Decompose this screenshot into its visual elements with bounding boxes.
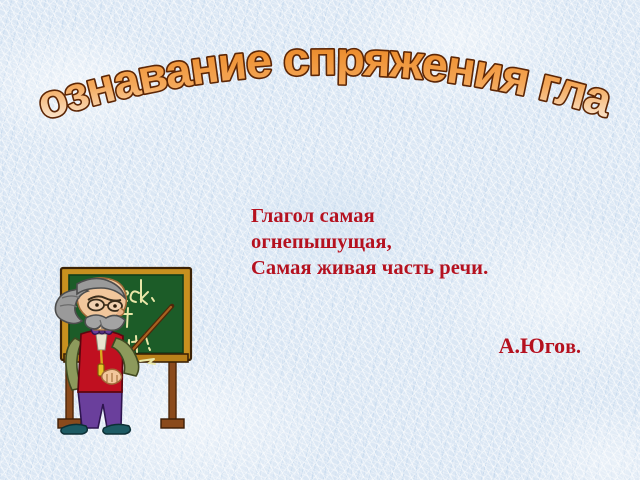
quote-line-3: Самая живая часть речи.	[251, 255, 591, 281]
attribution-tail: в.	[565, 336, 581, 358]
quote-line-2: огнепышущая,	[251, 229, 591, 255]
quote-text-block: Глагол самая огнепышущая, Самая живая ча…	[251, 203, 591, 281]
attribution-name: А.Юго	[499, 333, 566, 358]
quote-attribution: А.Югов.	[251, 333, 581, 360]
slide-title-wordart: Распознавание спряжения глагола Распозна…	[20, 24, 620, 144]
title-text-fill: Распознавание спряжения глагола	[20, 24, 619, 130]
professor-chalkboard-clipart	[44, 264, 212, 444]
svg-text:Распознавание спряжения глагол: Распознавание спряжения глагола	[20, 24, 619, 130]
slide-canvas: Распознавание спряжения глагола Распозна…	[0, 0, 640, 480]
quote-line-1: Глагол самая	[251, 203, 591, 229]
